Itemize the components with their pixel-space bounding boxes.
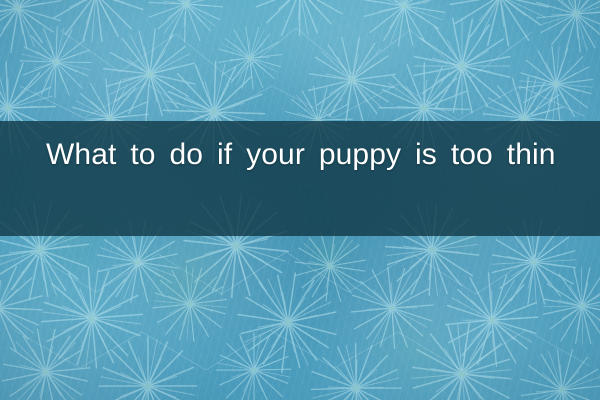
caption-title: What to do if your puppy is too thin [46,138,570,172]
caption-band: What to do if your puppy is too thin [0,121,600,236]
title-card: What to do if your puppy is too thin [0,0,600,400]
